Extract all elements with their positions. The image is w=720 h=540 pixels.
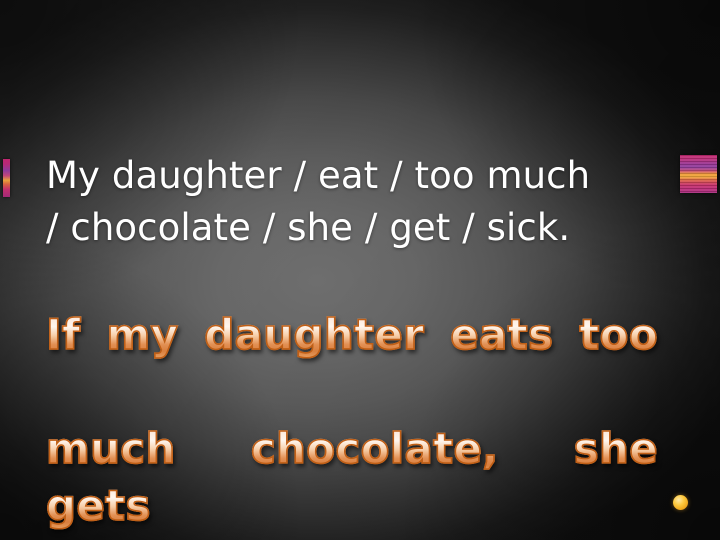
answer-line: much chocolate, she gets	[46, 420, 658, 540]
answer-line: If my daughter eats too	[46, 306, 658, 420]
prompt-text: My daughter / eat / too much / chocolate…	[46, 150, 661, 254]
striped-square-decoration-right	[680, 155, 717, 193]
presentation-slide: My daughter / eat / too much / chocolate…	[0, 0, 720, 540]
answer-line-text: much chocolate, she gets	[46, 424, 658, 530]
striped-bar-decoration-left	[3, 159, 10, 197]
gold-bullet-dot-decoration	[673, 495, 688, 510]
answer-text: If my daughter eats too much chocolate, …	[46, 306, 658, 540]
answer-line-text: If my daughter eats too	[46, 310, 658, 359]
